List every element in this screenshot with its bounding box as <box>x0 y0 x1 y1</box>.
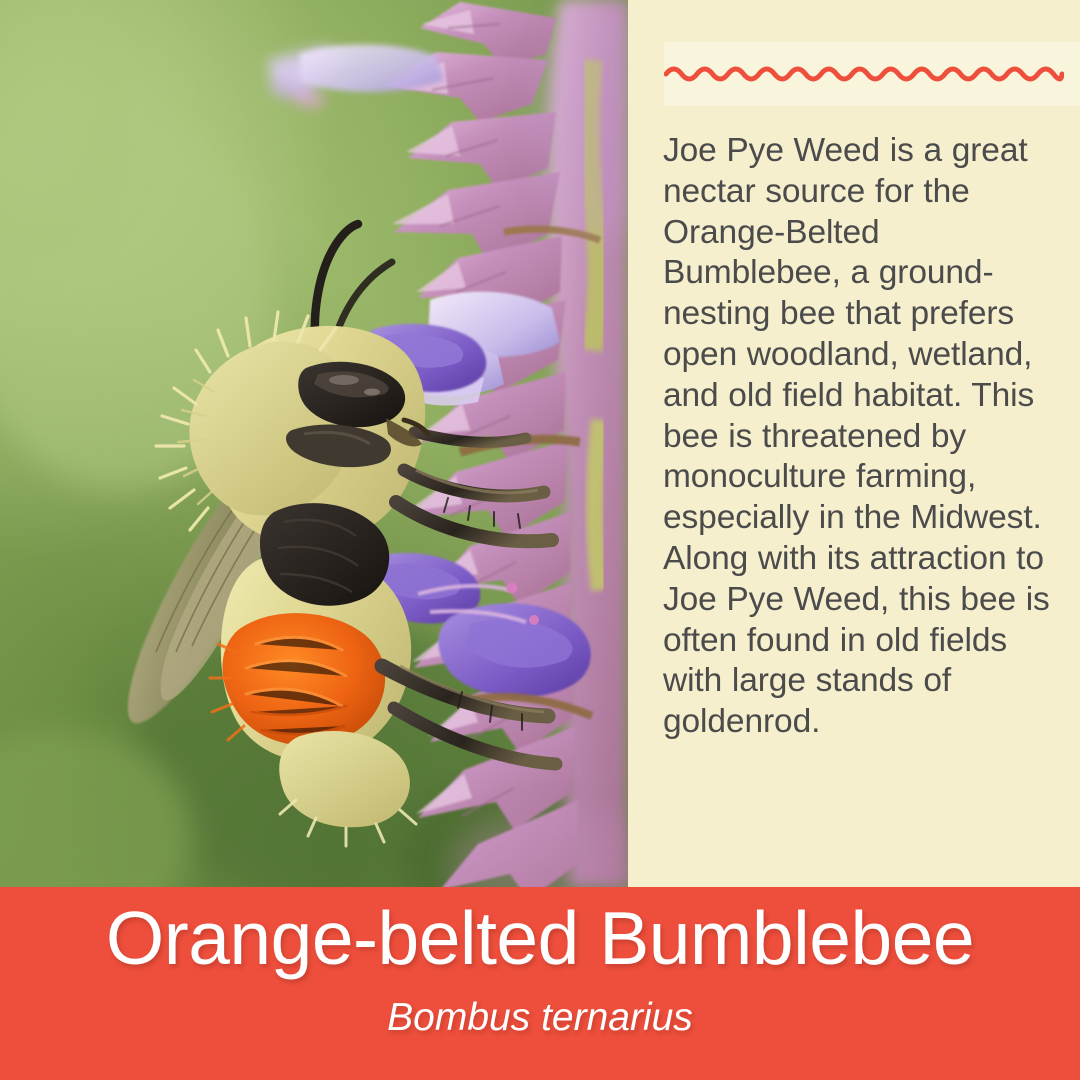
species-scientific-name: Bombus ternarius <box>0 995 1080 1041</box>
bumblebee-photo <box>0 0 628 887</box>
description-panel: Joe Pye Weed is a great nectar source fo… <box>628 0 1080 887</box>
title-banner: Orange-belted Bumblebee <box>0 887 1080 1080</box>
wavy-divider-container <box>664 42 1080 106</box>
wavy-line-divider-icon <box>664 60 1064 88</box>
description-text: Joe Pye Weed is a great nectar source fo… <box>663 131 1063 743</box>
species-info-card: Joe Pye Weed is a great nectar source fo… <box>0 0 1080 1080</box>
bumblebee-photo-illustration <box>0 0 628 887</box>
species-common-name: Orange-belted Bumblebee <box>0 897 1080 979</box>
